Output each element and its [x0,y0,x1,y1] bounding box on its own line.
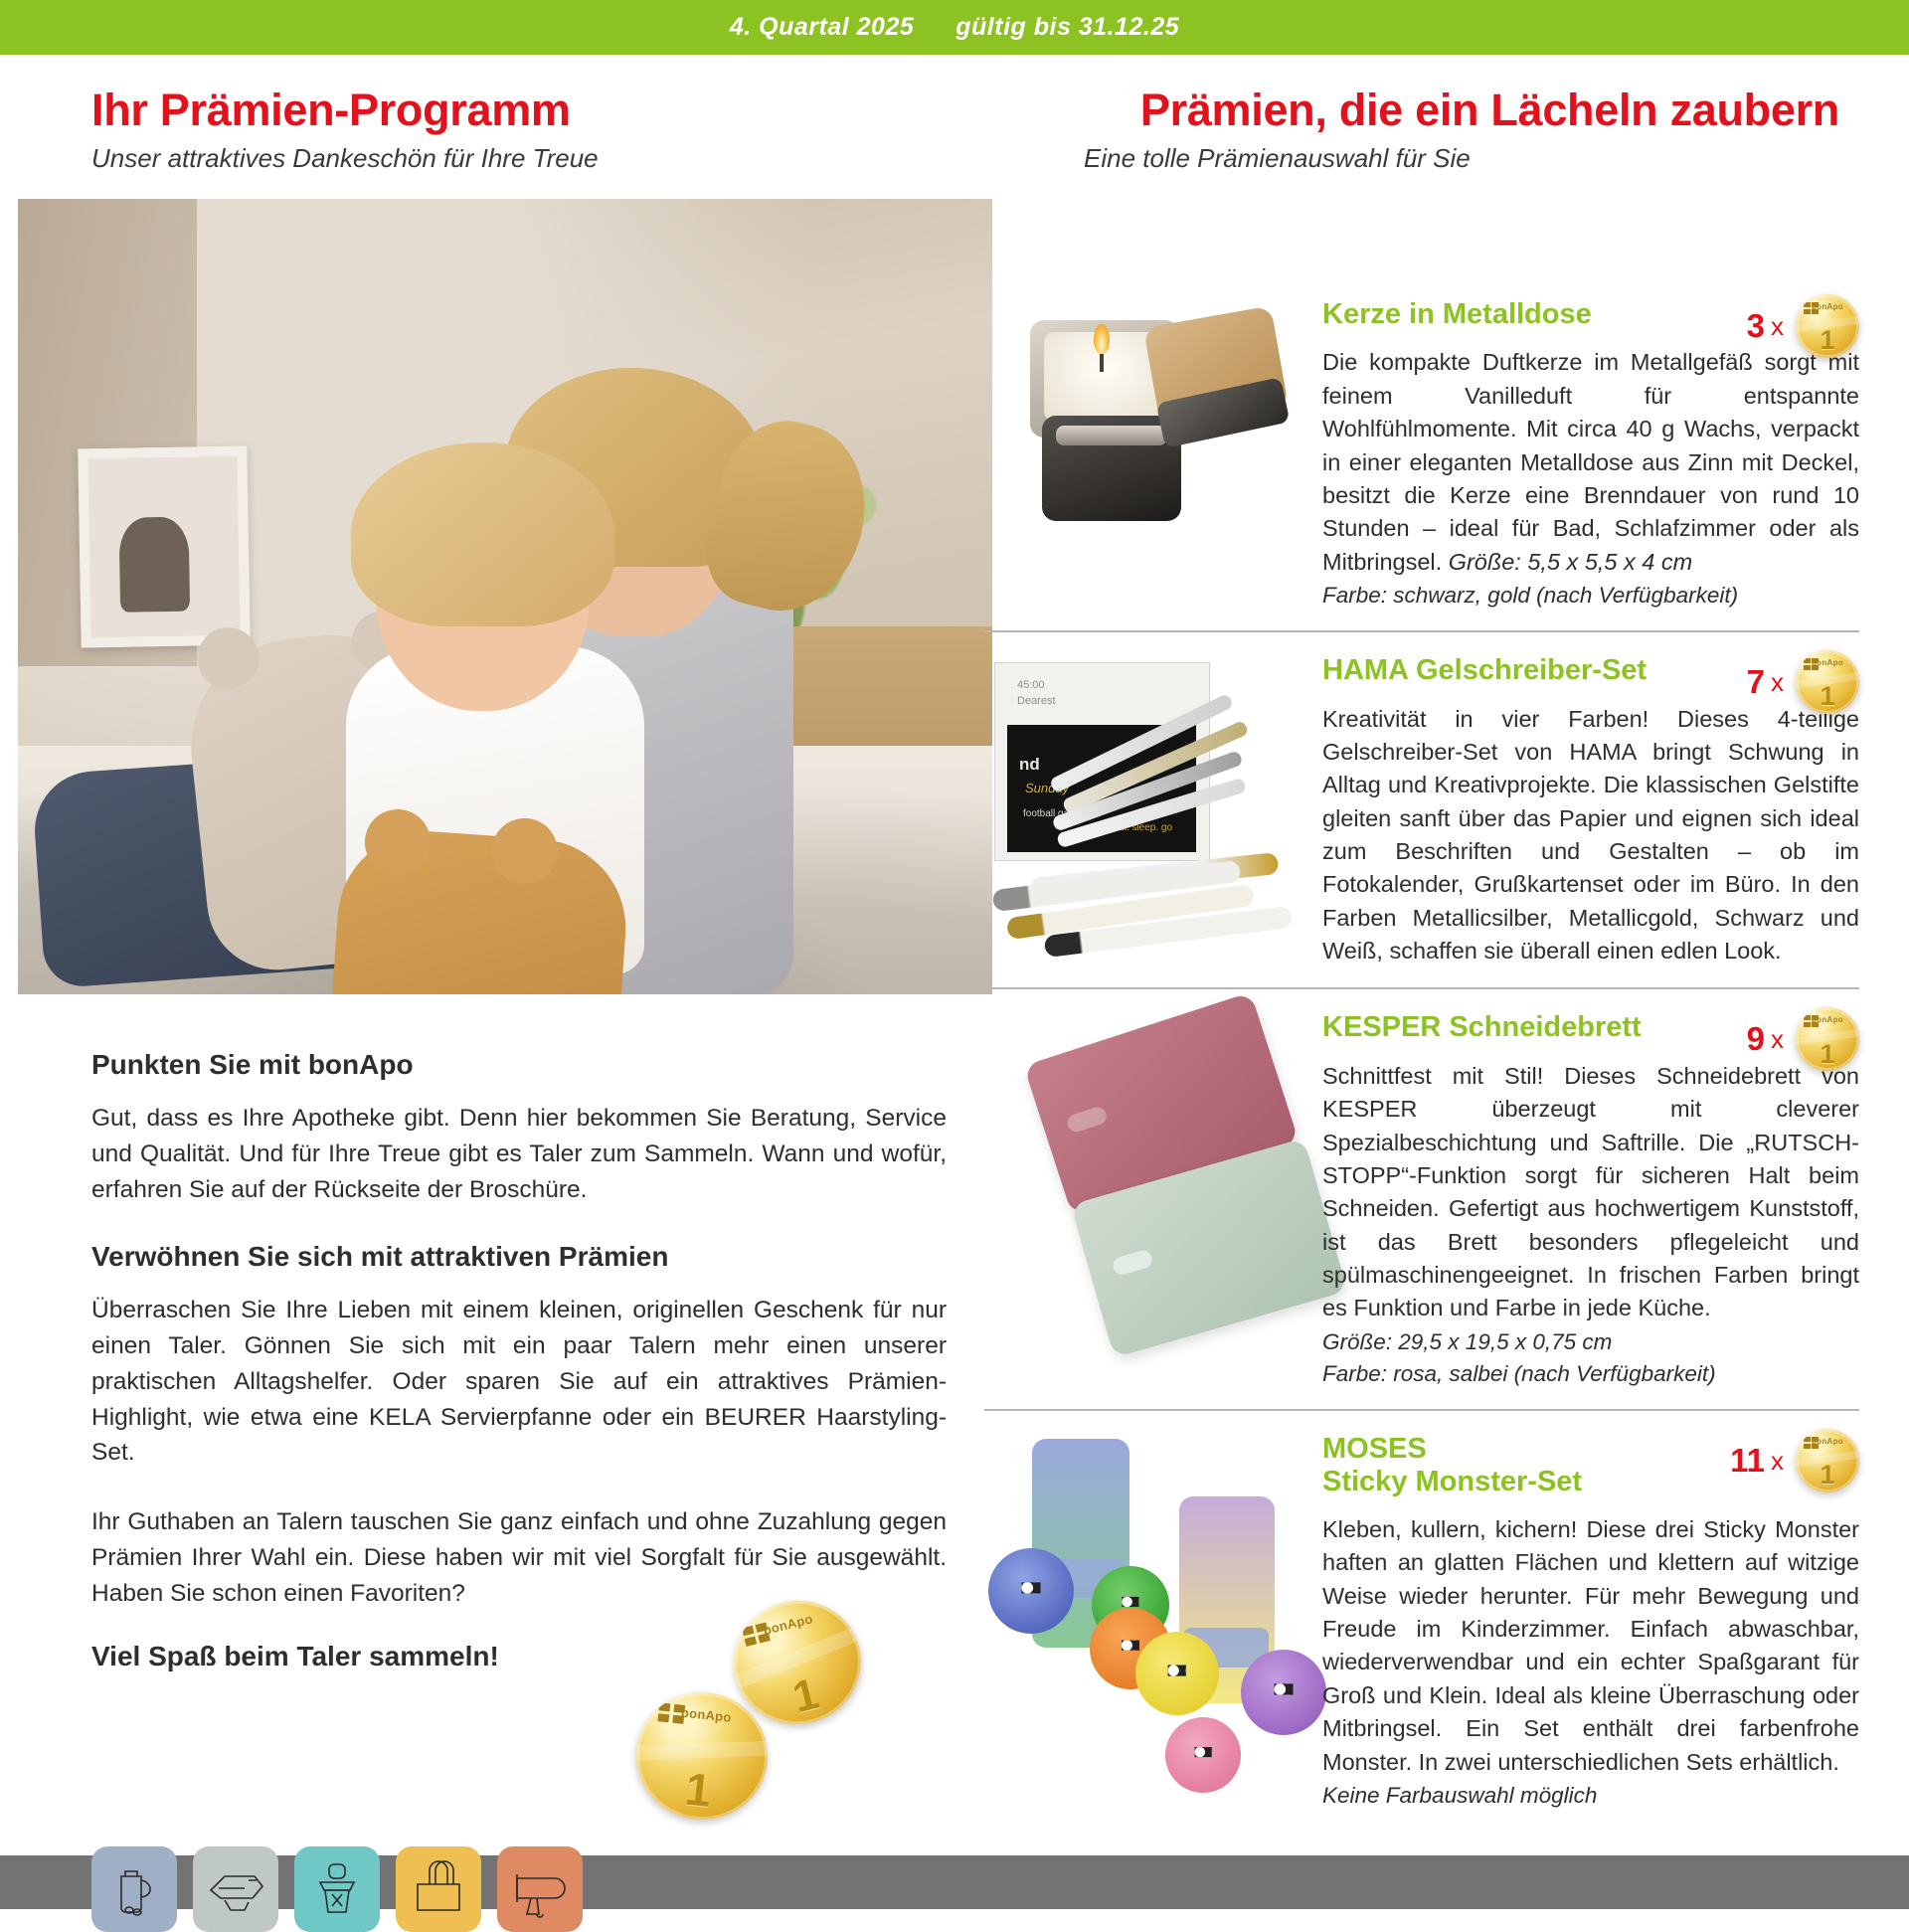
product-times-label: x [1771,1446,1784,1477]
coin-value-label: 1 [1796,1460,1859,1491]
top-validity-bar: 4. Quartal 2025 gültig bis 31.12.25 [0,0,1909,55]
staple-gun-icon [201,1854,270,1924]
left-headline: Ihr Prämien-Programm [91,87,966,133]
right-subline: Eine tolle Prämienauswahl für Sie [1084,143,1839,174]
candle-flame-icon [1094,324,1110,354]
product-info: KESPER Schneidebrett 9 x bonApo 1 Schnit… [1312,1011,1859,1389]
handbag-icon [404,1854,473,1924]
product-info: HAMA Gelschreiber-Set 7 x bonApo 1 Kreat… [1312,654,1859,967]
product-title-text: Schneidebrett [1449,1011,1641,1043]
section-text-punkten: Gut, dass es Ihre Apotheke gibt. Denn hi… [91,1101,947,1207]
product-row[interactable]: KESPER Schneidebrett 9 x bonApo 1 Schnit… [984,987,1859,1409]
product-description: Kreativität in vier Farben! Dieses 4-tei… [1322,703,1859,968]
section-heading-punkten: Punkten Sie mit bonApo [91,1049,947,1081]
product-quantity: 3 [1747,307,1765,345]
product-color: Keine Farbauswahl möglich [1322,1781,1859,1811]
section-heading-verwoehnen: Verwöhnen Sie sich mit attraktiven Prämi… [91,1241,947,1273]
product-color: Farbe: schwarz, gold (nach Verfügbarkeit… [1322,581,1859,611]
product-title-text: Sticky Monster-Set [1322,1466,1582,1497]
taler-coin-icon: bonApo 1 [1796,1429,1859,1493]
child-hair [351,442,614,626]
coin-brand-label: bonApo [1796,1437,1859,1446]
product-image-gel-pens: 45:00 Dearest nd Sunday football game ea… [984,654,1312,967]
product-category-tiles [91,1846,583,1932]
premium-product-list: Kerze in Metalldose 3 x bonApo 1 Die kom… [984,298,1859,1831]
right-headline: Prämien, die ein Lächeln zaubern [1084,87,1839,133]
product-color: Farbe: rosa, salbei (nach Verfügbarkeit) [1322,1359,1859,1389]
product-quantity: 7 [1747,663,1765,701]
hair-dryer-icon [505,1854,575,1924]
monster-ball-yellow [1135,1632,1219,1715]
coin-brand-label: bonApo [1796,1015,1859,1024]
product-brand: MOSES [1322,1433,1427,1465]
product-row[interactable]: MOSESSticky Monster-Set 11 x bonApo 1 Kl… [984,1409,1859,1831]
product-info: Kerze in Metalldose 3 x bonApo 1 Die kom… [1312,298,1859,611]
coin-value-label: 1 [1796,325,1859,356]
product-title-text: Gelschreiber-Set [1416,654,1647,686]
product-price-badge: 9 x bonApo 1 [1747,1007,1859,1071]
page-body: Ihr Prämien-Programm Unser attraktives D… [0,55,1909,1909]
tile-food-chopper[interactable] [294,1846,380,1932]
picture-frame-decor [78,446,250,648]
coin-brand-label: bonApo [1796,658,1859,667]
left-text-blocks: Punkten Sie mit bonApo Gut, dass es Ihre… [91,1049,947,1672]
coin-brand-label: bonApo [1796,302,1859,311]
taler-coin-icon: bonApo 1 [1796,650,1859,714]
coin-value-label: 1 [630,1757,767,1825]
right-column-header: Prämien, die ein Lächeln zaubern Eine to… [1084,87,1839,174]
tile-milk-jug[interactable] [91,1846,177,1932]
tile-staple-gun[interactable] [193,1846,278,1932]
milk-jug-icon [99,1854,169,1924]
product-times-label: x [1771,311,1784,342]
product-size: Größe: 5,5 x 5,5 x 4 cm [1449,549,1693,575]
left-column-header: Ihr Prämien-Programm Unser attraktives D… [91,87,966,174]
product-row[interactable]: Kerze in Metalldose 3 x bonApo 1 Die kom… [984,298,1859,630]
product-quantity: 9 [1747,1020,1765,1058]
product-brand: KESPER [1322,1011,1441,1043]
validity-label: gültig bis 31.12.25 [955,13,1179,42]
left-subline: Unser attraktives Dankeschön für Ihre Tr… [91,143,966,174]
taler-coin-icon: bonApo 1 [1796,294,1859,358]
product-brand: HAMA [1322,654,1408,686]
product-image-candle [984,298,1312,611]
coin-value-label: 1 [1796,1039,1859,1070]
product-row[interactable]: 45:00 Dearest nd Sunday football game ea… [984,630,1859,987]
decorative-coins: bonApo 1 bonApo 1 [636,1601,895,1830]
quarter-label: 4. Quartal 2025 [730,13,914,42]
product-price-badge: 7 x bonApo 1 [1747,650,1859,714]
product-price-badge: 3 x bonApo 1 [1747,294,1859,358]
product-image-cutting-board [984,1011,1312,1389]
product-info: MOSESSticky Monster-Set 11 x bonApo 1 Kl… [1312,1433,1859,1811]
section-text-verwoehnen: Überraschen Sie Ihre Lieben mit einem kl… [91,1293,947,1471]
section-text-guthaben: Ihr Guthaben an Talern tauschen Sie ganz… [91,1504,947,1611]
tile-handbag[interactable] [396,1846,481,1932]
hero-photo-mother-and-child [18,199,992,994]
product-description: Kleben, kullern, kichern! Diese drei Sti… [1322,1513,1859,1779]
monster-ball-pink [1165,1717,1241,1793]
product-times-label: x [1771,667,1784,698]
product-description: Die kompakte Duftkerze im Metallgefäß so… [1322,346,1859,579]
candle-tin-black [1042,416,1181,521]
coin-value-label: 1 [1796,681,1859,712]
food-chopper-icon [302,1854,372,1924]
product-price-badge: 11 x bonApo 1 [1730,1429,1859,1493]
product-description: Schnittfest mit Stil! Dieses Schneidebre… [1322,1060,1859,1325]
product-image-sticky-monster [984,1433,1312,1811]
monster-ball-blue [988,1548,1074,1634]
tile-hair-dryer[interactable] [497,1846,583,1932]
product-size: Größe: 29,5 x 19,5 x 0,75 cm [1322,1327,1859,1357]
taler-coin-icon: bonApo 1 [1796,1007,1859,1071]
product-times-label: x [1771,1024,1784,1055]
product-quantity: 11 [1730,1442,1765,1480]
